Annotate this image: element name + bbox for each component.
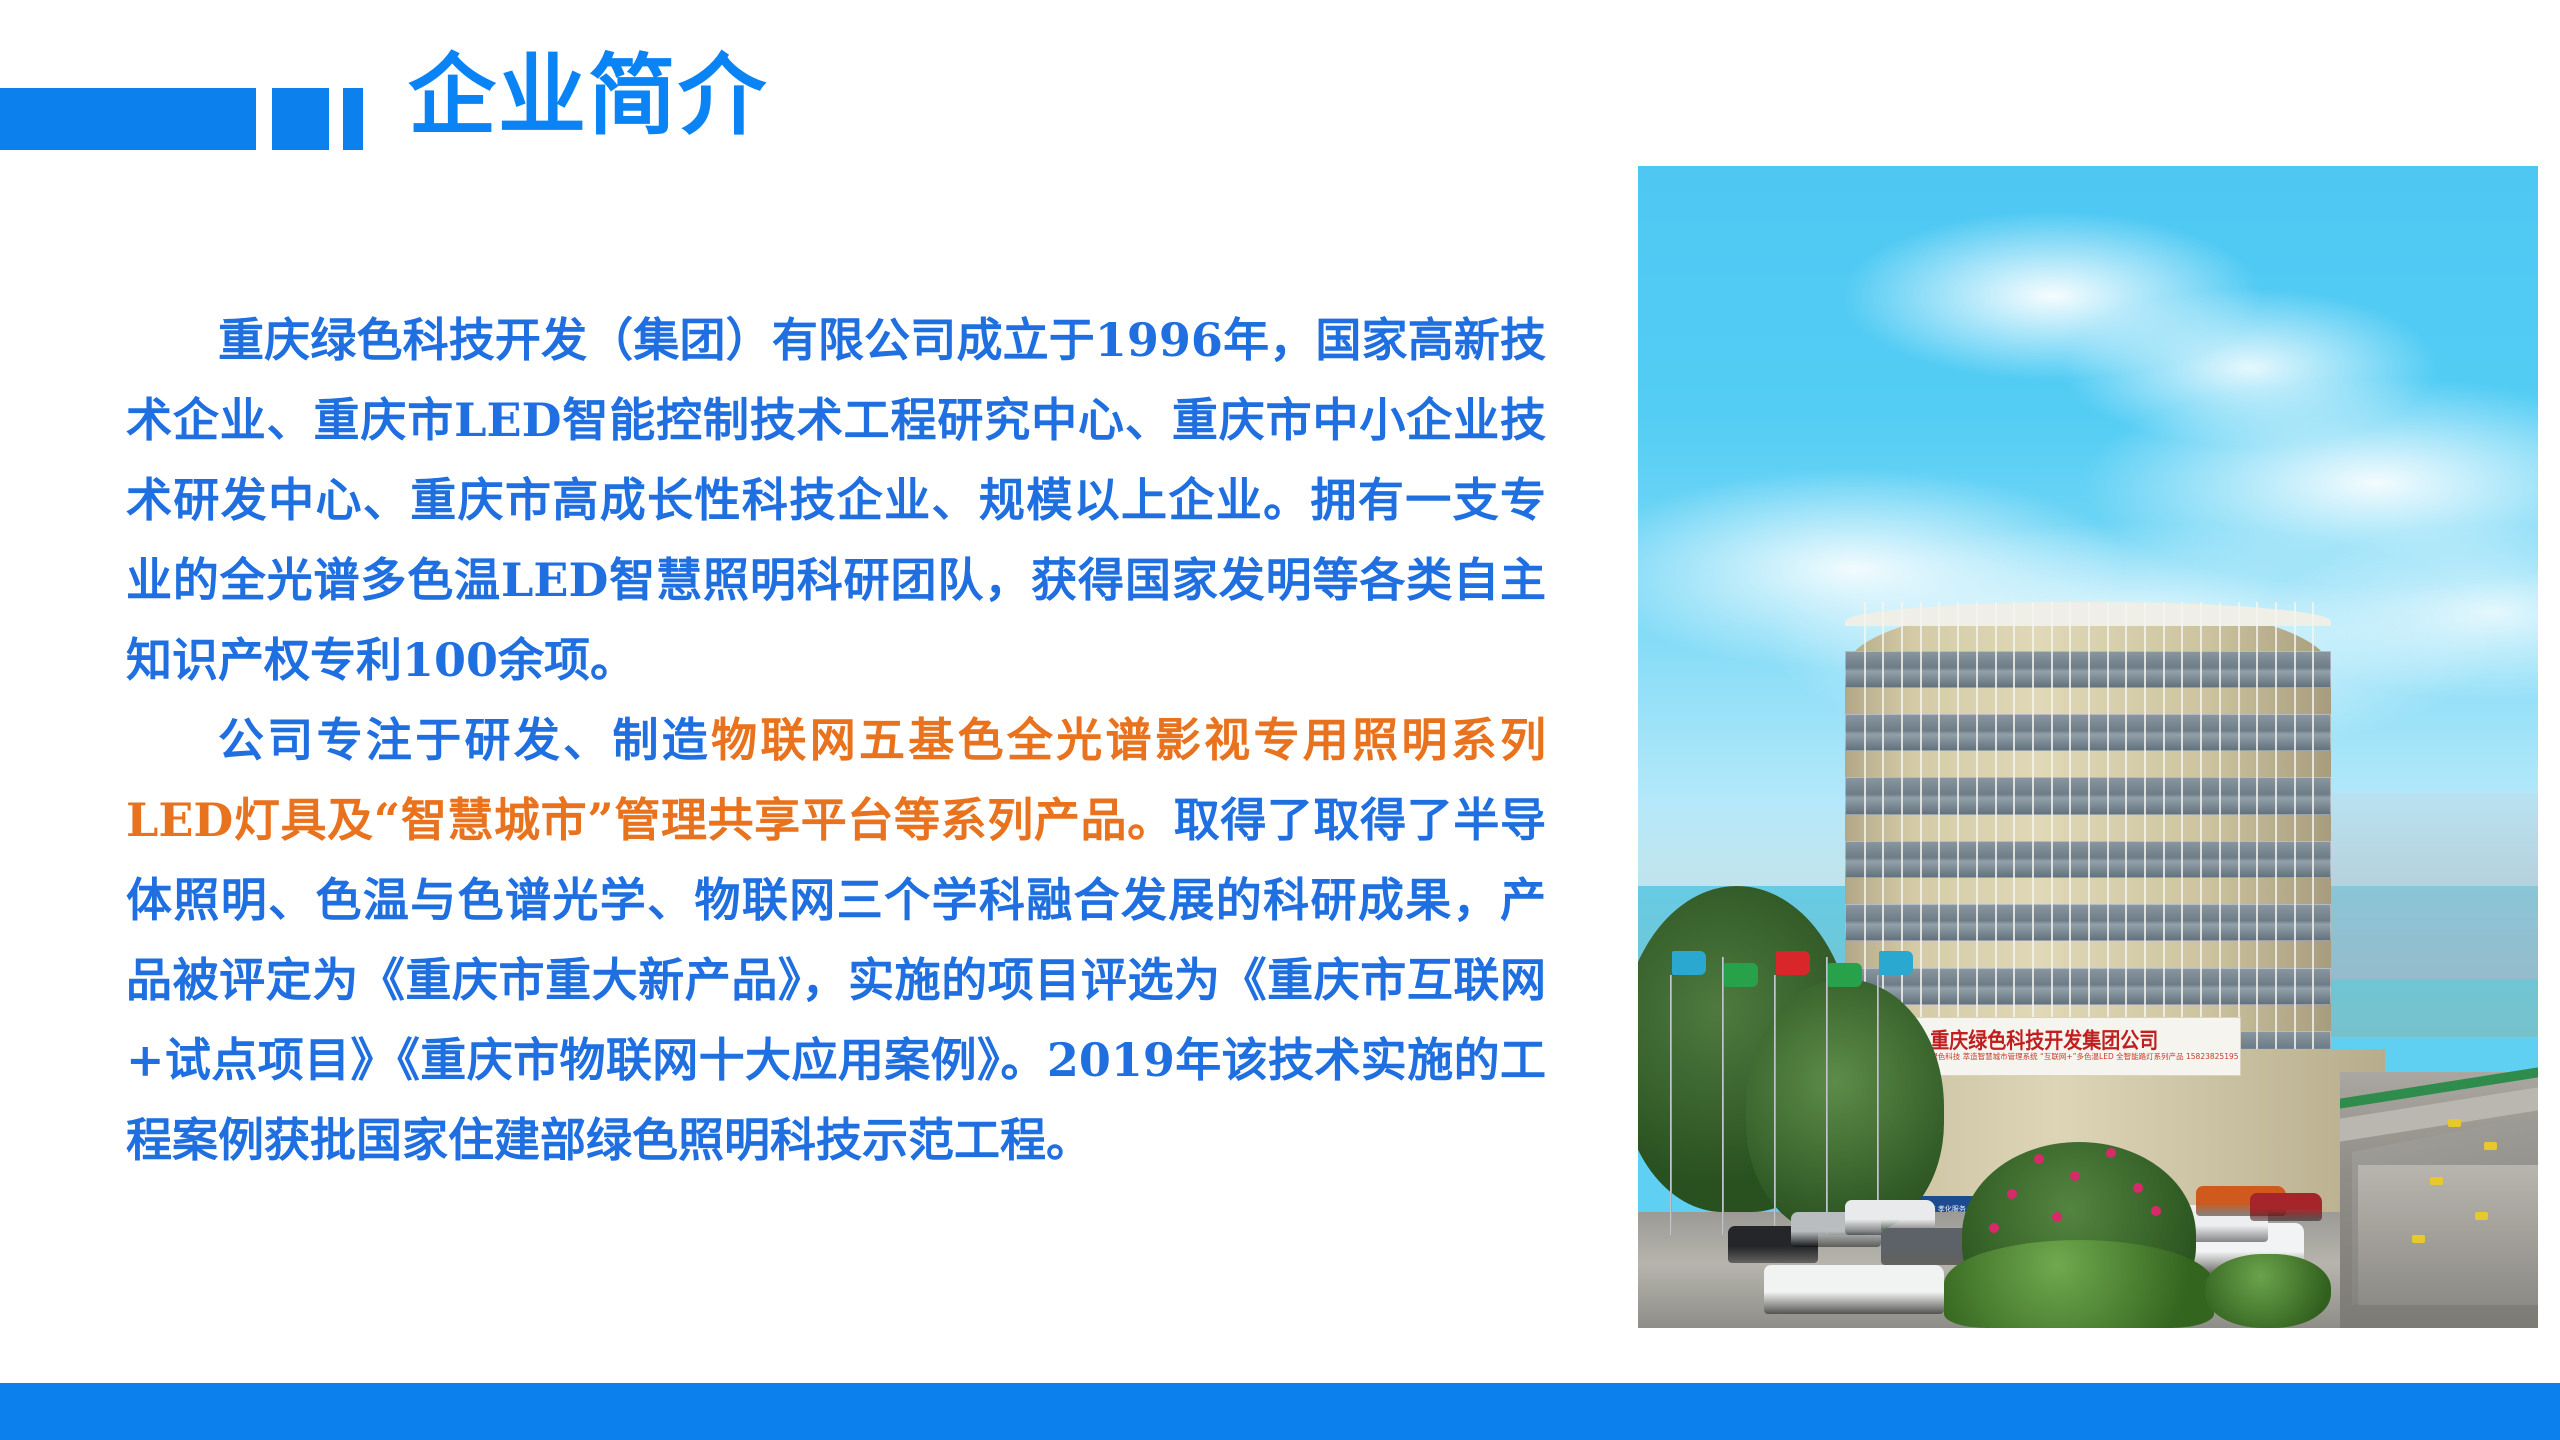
flower-blossom (2151, 1206, 2161, 1216)
tower-window-mullion (2275, 602, 2277, 1090)
flower-blossom (2106, 1148, 2116, 1158)
flag-green-1-icon (1724, 963, 1758, 987)
company-name-signboard: 重庆绿色科技开发集团公司 绿色科技 萃造智慧城市管理系统 “互联网+”多色温LE… (1899, 1017, 2241, 1076)
highway-taxi (2430, 1177, 2443, 1185)
flower-blossom (2052, 1212, 2062, 1222)
title-accent-slab (0, 88, 256, 150)
title-accent-bar-narrow (343, 88, 363, 150)
roadside-planter-wall (2358, 1165, 2538, 1304)
flag-green-2-icon (1828, 963, 1862, 987)
flag-pole (1722, 957, 1724, 1235)
highway-taxi (2448, 1119, 2461, 1127)
paragraph-company-overview: 重庆绿色科技开发（集团）有限公司成立于1996年，国家高新技术企业、重庆市LED… (126, 300, 1546, 700)
flag-pole (1670, 975, 1672, 1235)
tower-window-mullion (2256, 602, 2258, 1090)
signboard-tagline: 绿色科技 萃造智慧城市管理系统 “互联网+”多色温LED 全智能路灯系列产品 1… (1930, 1053, 2238, 1061)
tower-window-mullion (2294, 602, 2296, 1090)
signboard-text: 重庆绿色科技开发集团公司 绿色科技 萃造智慧城市管理系统 “互联网+”多色温LE… (1927, 1032, 2238, 1061)
tower-window-mullion (2312, 602, 2314, 1090)
paragraph-2-tail: 取得了取得了半导体照明、色温与色谱光学、物联网三个学科融合发展的科研成果，产品被… (126, 793, 1546, 1167)
flag-row (1647, 933, 1935, 1235)
signboard-company-name: 重庆绿色科技开发集团公司 (1930, 1030, 2238, 1052)
paragraph-products-and-awards: 公司专注于研发、制造物联网五基色全光谱影视专用照明系列LED灯具及“智慧城市”管… (126, 700, 1546, 1180)
flag-red-china-icon (1776, 951, 1810, 975)
distant-city-skyline (2322, 793, 2538, 979)
highway-taxi (2484, 1142, 2497, 1150)
flag-pole (1877, 975, 1879, 1235)
flower-blossom (2007, 1189, 2017, 1199)
flower-blossom (2034, 1154, 2044, 1164)
flag-cyan-1-icon (1672, 951, 1706, 975)
highway-taxi (2475, 1212, 2488, 1220)
flag-cyan-2-icon (1879, 951, 1913, 975)
hedge-center (1944, 1240, 2214, 1328)
flag-pole (1774, 975, 1776, 1235)
slide-title-bar: 企业简介 (0, 88, 1000, 150)
flower-blossom (2133, 1183, 2143, 1193)
car-taxi-white (1764, 1265, 1944, 1314)
car-red-suv (2250, 1193, 2322, 1221)
hedge-right (2205, 1254, 2331, 1328)
body-copy: 重庆绿色科技开发（集团）有限公司成立于1996年，国家高新技术企业、重庆市LED… (126, 300, 1546, 1180)
company-building-photo: 重庆绿色科技开发集团公司 绿色科技 萃造智慧城市管理系统 “互联网+”多色温LE… (1638, 166, 2538, 1328)
footer-accent-bar (0, 1383, 2560, 1440)
highway-taxi (2412, 1235, 2425, 1243)
page-title: 企业简介 (408, 52, 768, 140)
title-accent-bar-wide (272, 88, 329, 150)
paragraph-2-lead: 公司专注于研发、制造 (218, 713, 711, 767)
flag-pole (1826, 957, 1828, 1235)
